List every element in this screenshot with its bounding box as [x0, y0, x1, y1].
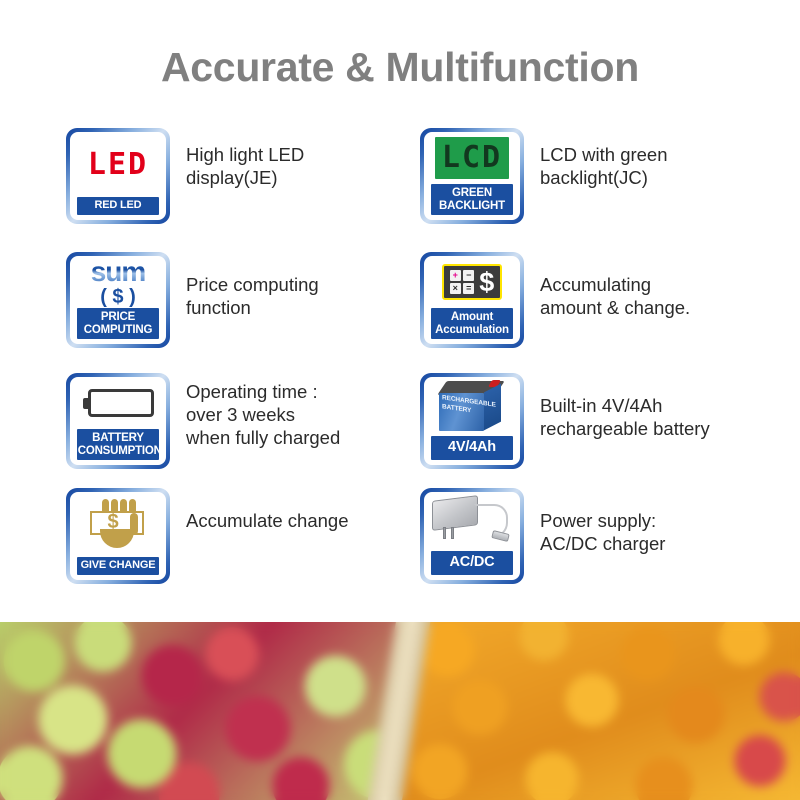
- feature-description: Price computing function: [170, 252, 385, 320]
- battery-block-graphic: RECHARGEABLE BATTERY: [435, 379, 509, 435]
- battery-body: [88, 389, 154, 417]
- feature-description: Built-in 4V/4Ah rechargeable battery: [524, 373, 739, 441]
- tile-label-green-backlight: GREEN BACKLIGHT: [431, 184, 514, 215]
- thumb: [130, 513, 138, 535]
- feature-item-green-backlight: LCD GREEN BACKLIGHT LCD with green backl…: [420, 128, 739, 224]
- dollar-sign-icon: $: [479, 271, 494, 294]
- hand-with-banknote-graphic: $: [86, 499, 150, 551]
- calculator-keys: + − × =: [450, 270, 475, 295]
- green-backlight-lcd-icon: LCD GREEN BACKLIGHT: [420, 128, 524, 224]
- feature-description: Accumulating amount & change.: [524, 252, 739, 320]
- feature-item-amount-accumulation: + − × = $ Amount Accumulation Accumulati…: [420, 252, 739, 348]
- tile-label-price-computing: PRICE COMPUTING: [77, 308, 160, 339]
- feature-item-red-led: LED RED LED High light LED display(JE): [66, 128, 385, 224]
- led-segment-text: LED: [88, 147, 148, 182]
- battery-terminal: [83, 398, 88, 409]
- rechargeable-battery-icon: RECHARGEABLE BATTERY 4V/4Ah: [420, 373, 524, 469]
- tile-label-rechargeable-battery: 4V/4Ah: [431, 436, 514, 460]
- adapter-prongs: [443, 527, 456, 539]
- red-led-display-icon: LED RED LED: [66, 128, 170, 224]
- give-change-hand-icon: $ GIVE CHANGE: [66, 488, 170, 584]
- photo-blur-overlay: [0, 622, 800, 800]
- fruit-market-crates-photo: [0, 622, 800, 800]
- feature-item-battery-consumption: BATTERY CONSUMPTION Operating time : ove…: [66, 373, 385, 469]
- tile-label-battery-consumption: BATTERY CONSUMPTION: [77, 429, 160, 460]
- tile-label-amount-accumulation: Amount Accumulation: [431, 308, 514, 339]
- lcd-segment-text: LCD: [442, 140, 502, 175]
- lcd-panel: LCD: [435, 137, 509, 179]
- tile-label-ac-dc: AC/DC: [431, 551, 514, 575]
- feature-item-price-computing: sum ( $ ) PRICE COMPUTING Price computin…: [66, 252, 385, 348]
- ac-adapter-graphic: [430, 496, 514, 548]
- feature-item-give-change: $ GIVE CHANGE Accumulate change: [66, 488, 385, 584]
- feature-description: Operating time : over 3 weeks when fully…: [170, 373, 385, 450]
- palm: [100, 529, 134, 548]
- feature-description: High light LED display(JE): [170, 128, 385, 190]
- amount-accumulation-calculator-icon: + − × = $ Amount Accumulation: [420, 252, 524, 348]
- adapter-body: [432, 495, 478, 531]
- adapter-plug: [491, 530, 509, 542]
- battery-consumption-icon: BATTERY CONSUMPTION: [66, 373, 170, 469]
- sum-dollar-text: ( $ ): [91, 287, 146, 307]
- equals-key: =: [463, 283, 474, 294]
- price-computing-sum-icon: sum ( $ ) PRICE COMPUTING: [66, 252, 170, 348]
- feature-item-rechargeable-battery: RECHARGEABLE BATTERY 4V/4Ah Built-in 4V/…: [420, 373, 739, 469]
- feature-description: LCD with green backlight(JC): [524, 128, 739, 190]
- feature-item-ac-dc-charger: AC/DC Power supply: AC/DC charger: [420, 488, 739, 584]
- feature-description: Accumulate change: [170, 488, 385, 533]
- tile-label-give-change: GIVE CHANGE: [77, 557, 160, 575]
- multiply-key: ×: [450, 283, 461, 294]
- feature-description: Power supply: AC/DC charger: [524, 488, 739, 556]
- plus-key: +: [450, 270, 461, 281]
- ac-dc-charger-icon: AC/DC: [420, 488, 524, 584]
- tile-label-red-led: RED LED: [77, 197, 160, 215]
- page-title: Accurate & Multifunction: [0, 0, 800, 112]
- feature-grid: LED RED LED High light LED display(JE) L…: [0, 120, 800, 620]
- calculator-graphic: + − × = $: [442, 264, 503, 301]
- minus-key: −: [463, 270, 474, 281]
- sum-word-text: sum: [91, 258, 146, 286]
- battery-graphic: [83, 389, 154, 417]
